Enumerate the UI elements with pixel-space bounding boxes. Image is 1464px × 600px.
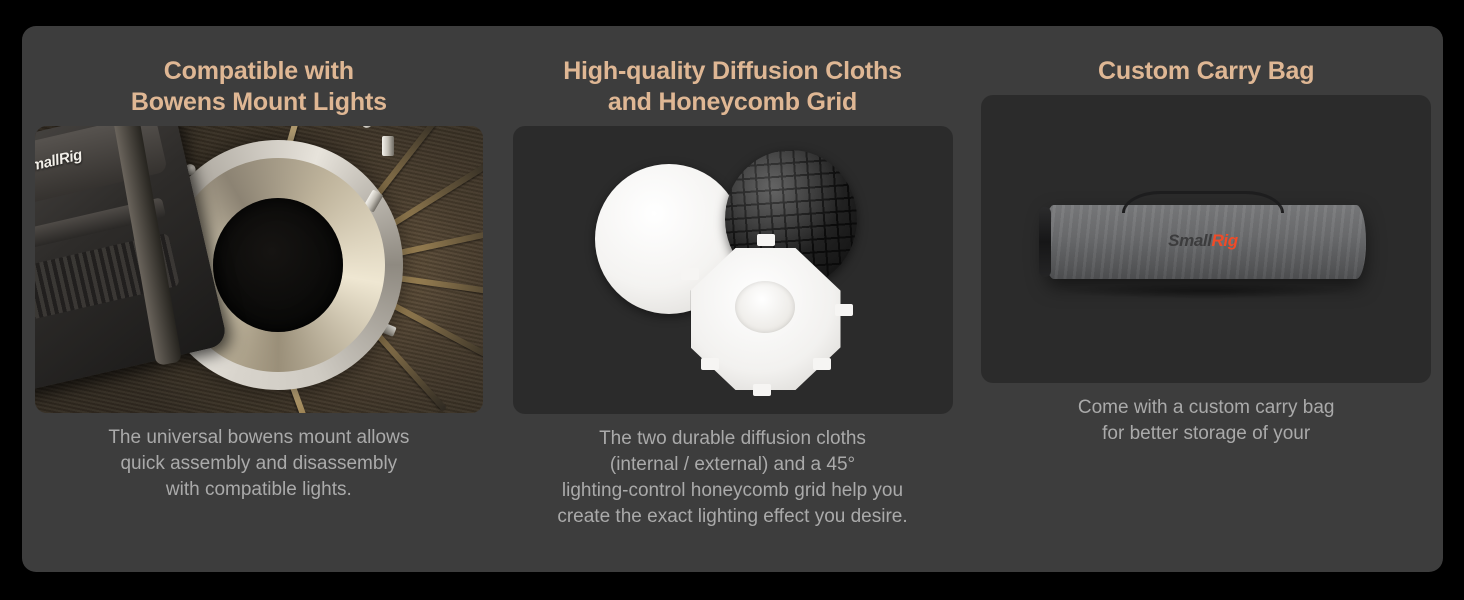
feature-caption-3: Come with a custom carry bag for better … (1078, 395, 1335, 447)
smallrig-logo-rig: Rig (1212, 231, 1238, 250)
cloth-velcro-tab (753, 384, 771, 396)
cloth-velcro-tab (835, 304, 853, 316)
feature-heading-3: Custom Carry Bag (1098, 56, 1314, 87)
smallrig-logo-bag: SmallRig (1168, 231, 1238, 251)
feature-columns: Compatible with Bowens Mount Lights (22, 26, 1443, 572)
feature-image-bowens-mount: SmallRig (35, 126, 483, 413)
ring-clamp (382, 136, 394, 156)
bag-drop-shadow (1061, 283, 1351, 299)
feature-column-diffusion-cloths: High-quality Diffusion Cloths and Honeyc… (496, 26, 970, 572)
feature-column-bowens-mount: Compatible with Bowens Mount Lights (22, 26, 496, 572)
cloth-velcro-tab (813, 358, 831, 370)
feature-column-carry-bag: Custom Carry Bag SmallRig Come with a cu… (969, 26, 1443, 572)
cloth-velcro-tab (701, 358, 719, 370)
feature-heading-1: Compatible with Bowens Mount Lights (131, 56, 387, 118)
smallrig-logo-small: Small (1168, 231, 1211, 250)
carry-bag: SmallRig (1044, 205, 1366, 279)
speed-ring-aperture (213, 198, 343, 332)
feature-caption-1: The universal bowens mount allows quick … (108, 425, 409, 503)
cloth-velcro-tab (681, 268, 699, 280)
octagonal-cloth-center-patch (735, 281, 795, 333)
feature-image-carry-bag: SmallRig (981, 95, 1431, 383)
feature-card: Compatible with Bowens Mount Lights (22, 26, 1443, 572)
feature-caption-2: The two durable diffusion cloths (intern… (557, 426, 907, 530)
cloth-velcro-tab (757, 234, 775, 246)
feature-heading-2: High-quality Diffusion Cloths and Honeyc… (563, 56, 902, 118)
bag-zipper (1039, 207, 1051, 277)
feature-image-diffusion-cloths (513, 126, 953, 414)
